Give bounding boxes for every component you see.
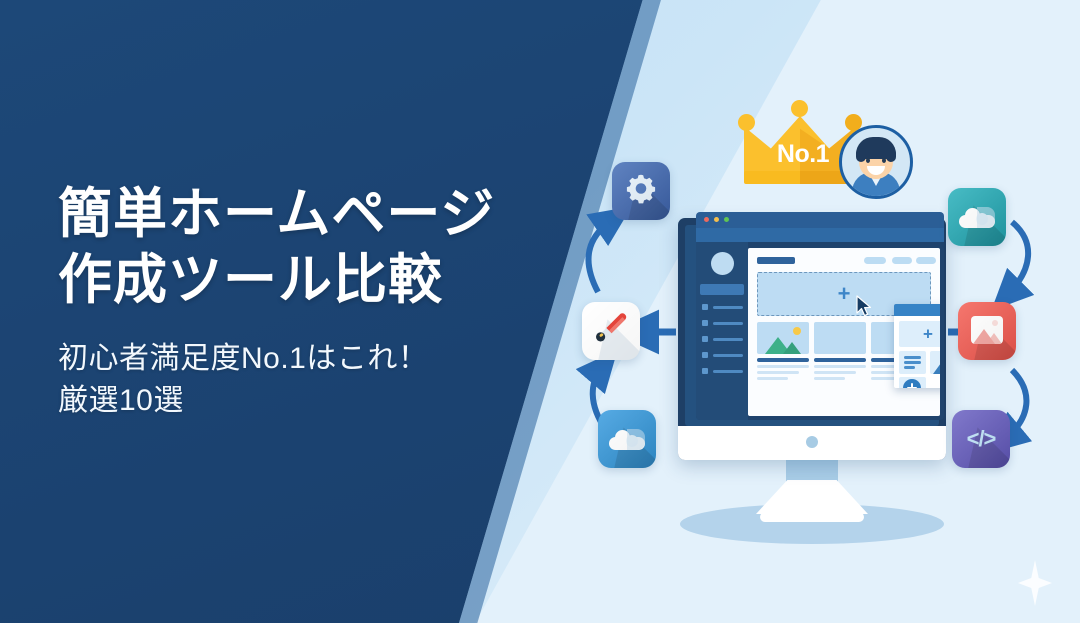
monitor-neck [786, 460, 838, 482]
window-toolbar [696, 228, 944, 242]
content-card[interactable] [814, 322, 866, 380]
app-body: + [696, 242, 944, 420]
hero-banner: 簡単ホームページ 作成ツール比較 初心者満足度No.1はこれ！ 厳選10選 [0, 0, 1080, 623]
subtitle-block: 初心者満足度No.1はこれ！ 厳選10選 [58, 338, 578, 423]
monitor-stand-base [760, 512, 864, 522]
mountain-photo-placeholder [757, 322, 809, 354]
mouse-cursor-icon [856, 295, 873, 317]
nav-item[interactable] [892, 257, 912, 264]
subtitle-line-1: 初心者満足度No.1はこれ！ [58, 338, 578, 381]
arrow-design-to-settings [589, 220, 612, 292]
tile-code[interactable]: </> [952, 410, 1010, 468]
content-card[interactable] [757, 322, 809, 380]
tile-settings[interactable] [612, 162, 670, 220]
widget-panel-titlebar: × [894, 304, 940, 316]
tile-hosting[interactable] [598, 410, 656, 468]
page-canvas: + [748, 248, 940, 416]
image-block-icon[interactable] [930, 351, 940, 374]
illustration-stage: No.1 [560, 70, 1060, 550]
drop-zone-plus-icon: + [838, 283, 851, 305]
desktop-monitor: + [678, 218, 946, 460]
no1-badge-label: No.1 [760, 140, 846, 169]
sidebar-avatar-icon [711, 252, 734, 275]
tile-design[interactable] [582, 302, 640, 360]
text-block-icon[interactable] [899, 351, 926, 374]
maximize-dot[interactable] [724, 217, 729, 222]
nav-item[interactable] [864, 257, 886, 264]
headline-block: 簡単ホームページ 作成ツール比較 初心者満足度No.1はこれ！ 厳選10選 [58, 182, 578, 423]
minimize-dot[interactable] [714, 217, 719, 222]
window-titlebar [696, 212, 944, 228]
close-dot[interactable] [704, 217, 709, 222]
headline-line-2: 作成ツール比較 [58, 248, 578, 314]
subtitle-line-2: 厳選10選 [58, 380, 578, 423]
user-avatar-icon [839, 125, 913, 199]
headline-line-1: 簡単ホームページ [58, 182, 578, 248]
tile-media[interactable] [958, 302, 1016, 360]
site-logo-placeholder [757, 257, 795, 264]
monitor-power-button[interactable] [806, 436, 818, 448]
app-sidebar [696, 242, 748, 420]
widget-picker-panel[interactable]: × + [894, 304, 940, 388]
blank-image-placeholder [814, 322, 866, 354]
builder-app-window: + [696, 212, 944, 420]
add-block-tile[interactable]: + [899, 321, 940, 347]
nav-item[interactable] [916, 257, 936, 264]
sidebar-active-item[interactable] [700, 284, 744, 295]
add-circle-icon[interactable] [899, 377, 926, 388]
arrow-cloud-to-media [1008, 222, 1028, 294]
tile-cloud-upload[interactable] [948, 188, 1006, 246]
